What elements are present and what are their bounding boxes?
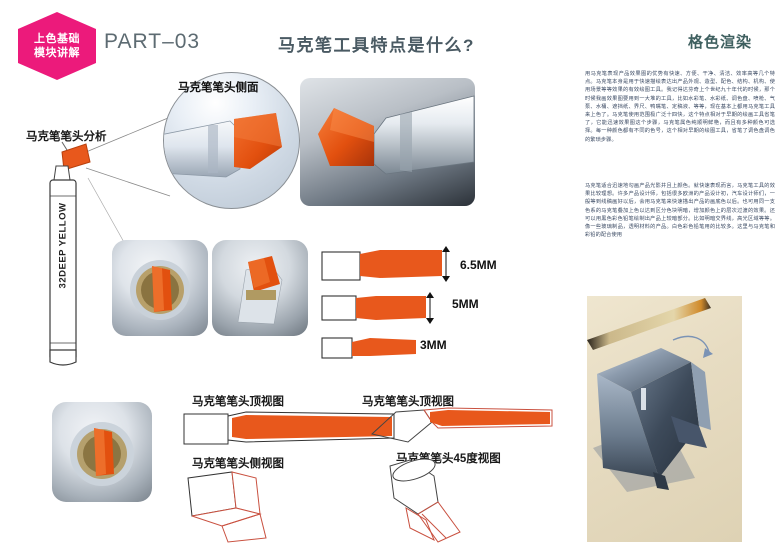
nib-top-photo-3-drawing <box>52 402 152 502</box>
nib-top-photo-2-drawing <box>212 240 308 336</box>
nib-top-view-right-drawing <box>352 404 562 450</box>
marker-sketch-drawing <box>587 296 742 542</box>
measurement-value-0: 6.5MM <box>460 258 497 272</box>
measurement-value-2: 3MM <box>420 338 447 352</box>
nib-top-photo-1-drawing <box>112 240 208 336</box>
nib-top-photo-2 <box>212 240 308 336</box>
measurement-value-1: 5MM <box>452 297 479 311</box>
nib-top-photo-1 <box>112 240 208 336</box>
marker-barrel-text-wrap: 32DEEP YELLOW <box>50 175 76 315</box>
marker-closeup-photo <box>300 78 475 206</box>
nib-side-view-drawing <box>182 468 332 544</box>
slide-root: 上色基础 模块讲解 PART–03 马克笔工具特点是什么? 格色渲染 马克笔笔头… <box>0 0 779 551</box>
nib-side-face-label: 马克笔笔头侧面 <box>178 79 259 95</box>
body-paragraph-1: 用马克笔表现产品效果图的优势有快速、方便、干净、清洁、效率高等几个特点。马克笔本… <box>585 70 775 144</box>
nib-45-view-drawing <box>376 458 556 544</box>
marker-closeup-drawing <box>300 78 475 206</box>
nib-top-view-left-label: 马克笔笔头顶视图 <box>192 393 284 409</box>
marker-barrel-text: 32DEEP YELLOW <box>58 202 69 288</box>
nib-top-photo-3 <box>52 402 152 502</box>
marker-sketch-photo <box>587 296 742 542</box>
body-paragraph-2: 马克笔适合迅速地勾画产品光影并且上颜色。就快速表现而言，马克笔工具的效果比较理想… <box>585 182 775 239</box>
